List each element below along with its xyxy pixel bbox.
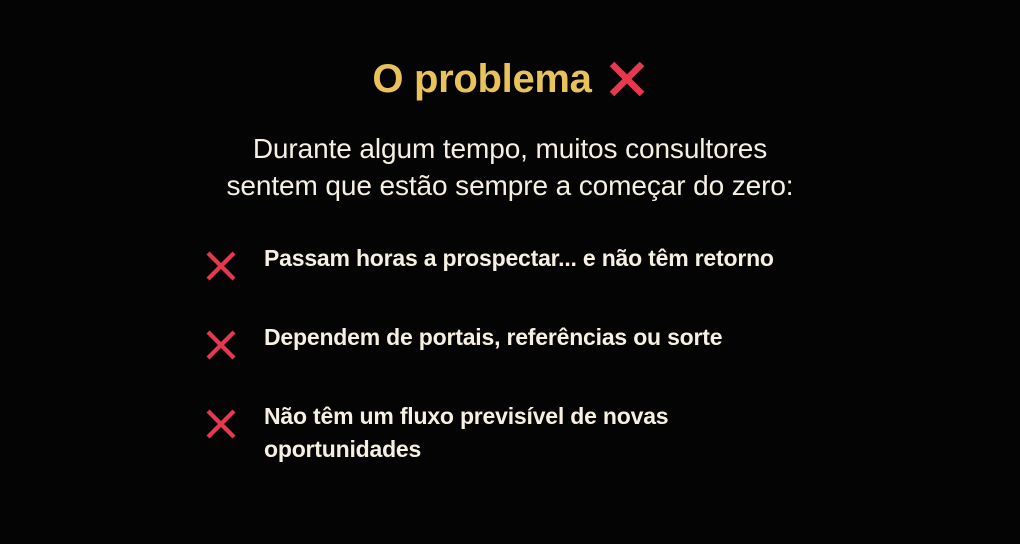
problem-list: Passam horas a prospectar... e não têm r… [204,242,964,466]
slide-title: O problema [0,58,1020,100]
list-item: Dependem de portais, referências ou sort… [204,321,964,362]
list-item-label: Passam horas a prospectar... e não têm r… [264,242,774,275]
subtitle-line-2: sentem que estão sempre a começar do zer… [0,167,1020,204]
list-item-label: Dependem de portais, referências ou sort… [264,321,722,354]
subtitle-line-1: Durante algum tempo, muitos consultores [0,130,1020,167]
list-item: Não têm um fluxo previsível de novas opo… [204,400,964,466]
list-item: Passam horas a prospectar... e não têm r… [204,242,964,283]
cross-mark-icon [204,249,238,283]
cross-mark-icon [606,58,648,100]
presentation-slide: O problema Durante algum tempo, muitos c… [0,0,1020,544]
slide-subtitle: Durante algum tempo, muitos consultores … [0,130,1020,204]
cross-mark-icon [204,407,238,441]
page-title: O problema [372,59,591,99]
list-item-label: Não têm um fluxo previsível de novas opo… [264,400,734,466]
cross-mark-icon [204,328,238,362]
